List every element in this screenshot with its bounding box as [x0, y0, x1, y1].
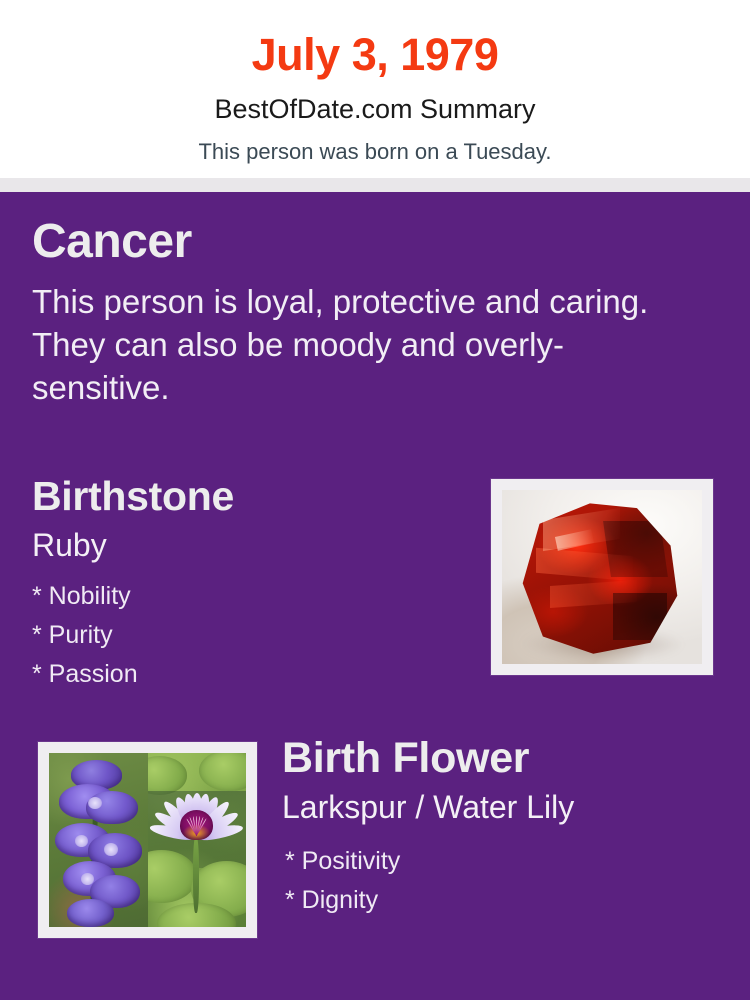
page-title: July 3, 1979: [0, 0, 750, 77]
larkspur-bloom: [67, 899, 114, 927]
birth-flower-photo-frame: [38, 742, 257, 938]
ruby-crystal-photo: [502, 490, 702, 664]
birth-flower-trait-list: * Positivity * Dignity: [282, 823, 732, 913]
lily-center: [180, 810, 213, 841]
list-item: * Dignity: [285, 874, 732, 913]
zodiac-section: Cancer This person is loyal, protective …: [32, 218, 672, 410]
birth-flower-section: Birth Flower Larkspur / Water Lily * Pos…: [282, 737, 732, 913]
birthstone-name: Ruby: [32, 517, 462, 561]
larkspur-bloom-center: [88, 797, 102, 809]
zodiac-description: This person is loyal, protective and car…: [32, 266, 652, 410]
born-day-text: This person was born on a Tuesday.: [0, 123, 750, 163]
header-divider: [0, 178, 750, 192]
birth-flower-photo-pair: [49, 753, 246, 927]
birthstone-section: Birthstone Ruby * Nobility * Purity * Pa…: [32, 476, 462, 687]
zodiac-sign-name: Cancer: [32, 218, 672, 266]
page-header: July 3, 1979 BestOfDate.com Summary This…: [0, 0, 750, 178]
birth-flower-name: Larkspur / Water Lily: [282, 780, 732, 823]
birthstone-heading: Birthstone: [32, 476, 462, 517]
larkspur-bloom-center: [104, 843, 118, 855]
site-summary-label: BestOfDate.com Summary: [0, 77, 750, 123]
list-item: * Nobility: [32, 570, 462, 609]
larkspur-photo: [49, 753, 148, 927]
water-lily-photo: [148, 753, 247, 927]
larkspur-bloom-center: [75, 835, 89, 847]
list-item: * Positivity: [285, 835, 732, 874]
summary-page: July 3, 1979 BestOfDate.com Summary This…: [0, 0, 750, 1000]
ruby-photo-background: [502, 490, 702, 664]
list-item: * Purity: [32, 609, 462, 648]
birthstone-photo-frame: [491, 479, 713, 675]
content-panel: Cancer This person is loyal, protective …: [0, 192, 750, 1000]
lily-bloom: [155, 777, 238, 854]
list-item: * Passion: [32, 648, 462, 687]
birthstone-trait-list: * Nobility * Purity * Passion: [32, 561, 462, 687]
birth-flower-heading: Birth Flower: [282, 737, 732, 780]
